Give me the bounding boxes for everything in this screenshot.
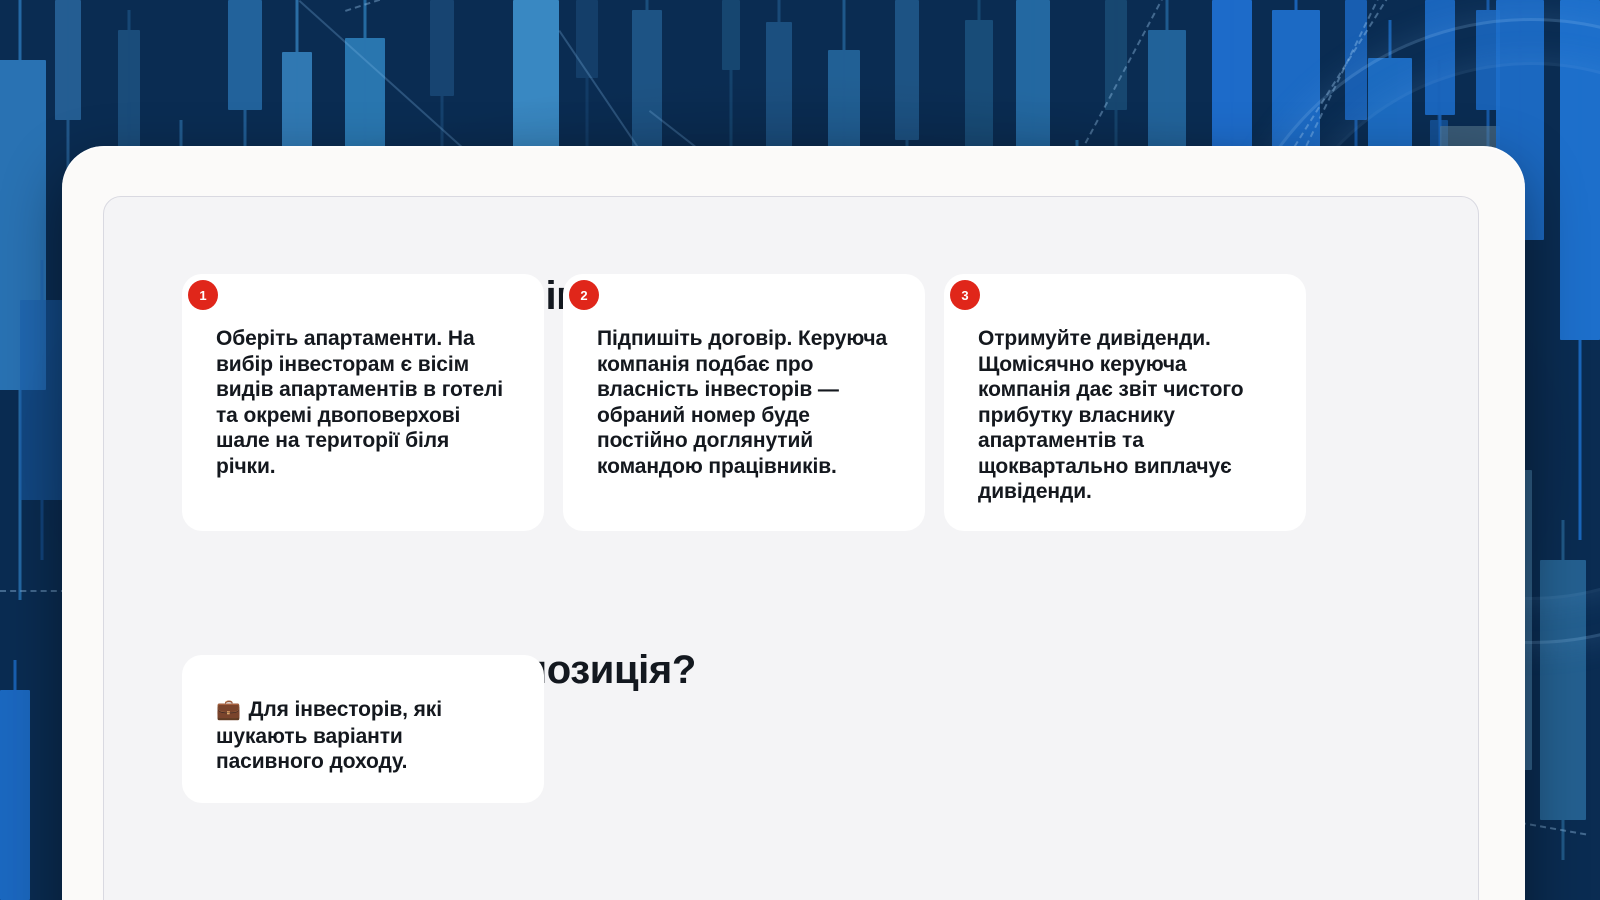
step-card: 1Оберіть апартаменти. На вибір інвестора… xyxy=(182,274,544,531)
screen-root: Порядок дій для інвесторів 1Оберіть апар… xyxy=(0,0,1600,900)
audience-card-text: 💼 Для інвесторів, які шукають варіанти п… xyxy=(216,697,514,775)
step-card-text: Отримуйте дивіденди. Щомісячно керуюча к… xyxy=(978,326,1276,505)
step-number-badge: 3 xyxy=(950,280,980,310)
step-number-badge: 2 xyxy=(569,280,599,310)
step-card: 3Отримуйте дивіденди. Щомісячно керуюча … xyxy=(944,274,1306,531)
step-card: 2Підпишіть договір. Керуюча компанія под… xyxy=(563,274,925,531)
audience-card-row: 💼 Для інвесторів, які шукають варіанти п… xyxy=(182,655,1327,803)
step-card-text: Підпишіть договір. Керуюча компанія подб… xyxy=(597,326,895,479)
audience-card: 💼 Для інвесторів, які шукають варіанти п… xyxy=(182,655,544,803)
step-number-badge: 1 xyxy=(188,280,218,310)
audience-card-label: Для інвесторів, які шукають варіанти пас… xyxy=(216,698,442,773)
steps-card-row: 1Оберіть апартаменти. На вибір інвестора… xyxy=(182,274,1327,531)
step-card-text: Оберіть апартаменти. На вибір інвесторам… xyxy=(216,326,514,479)
briefcase-emoji: 💼 xyxy=(216,699,241,721)
